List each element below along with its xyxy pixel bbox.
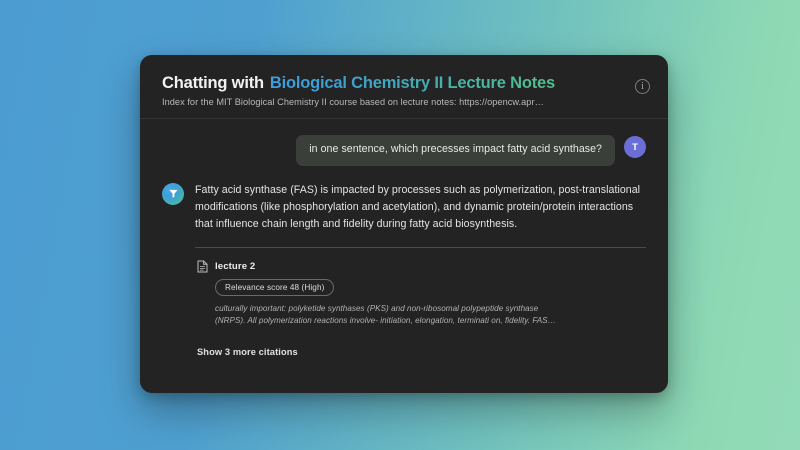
conversation-area: in one sentence, which precesses impact … xyxy=(140,119,668,393)
citation-item[interactable]: lecture 2 Relevance score 48 (High) cult… xyxy=(195,260,646,328)
info-icon[interactable]: i xyxy=(635,79,650,94)
user-message-row: in one sentence, which precesses impact … xyxy=(162,135,646,166)
avatar-user-initial: T xyxy=(632,142,638,153)
avatar-assistant xyxy=(162,183,184,205)
user-message-bubble: in one sentence, which precesses impact … xyxy=(296,135,615,166)
title-source-name: Biological Chemistry II Lecture Notes xyxy=(270,74,555,93)
header-subtitle: Index for the MIT Biological Chemistry I… xyxy=(162,97,592,107)
title-prefix: Chatting with xyxy=(162,74,264,93)
assistant-message-body: Fatty acid synthase (FAS) is impacted by… xyxy=(195,182,646,360)
assistant-message-row: Fatty acid synthase (FAS) is impacted by… xyxy=(162,182,646,360)
avatar-user: T xyxy=(624,136,646,158)
document-icon xyxy=(197,260,208,273)
citation-snippet: culturally important: polyketide synthas… xyxy=(215,303,560,328)
card-header: Chatting with Biological Chemistry II Le… xyxy=(140,55,668,119)
chat-card: Chatting with Biological Chemistry II Le… xyxy=(140,55,668,393)
funnel-icon xyxy=(168,188,179,199)
show-more-citations-button[interactable]: Show 3 more citations xyxy=(197,347,298,357)
citation-title: lecture 2 xyxy=(215,261,255,272)
relevance-score-badge: Relevance score 48 (High) xyxy=(215,279,334,296)
assistant-answer-text: Fatty acid synthase (FAS) is impacted by… xyxy=(195,182,646,233)
citation-header: lecture 2 xyxy=(197,260,646,273)
page-title: Chatting with Biological Chemistry II Le… xyxy=(162,74,646,93)
citation-divider xyxy=(195,247,646,248)
